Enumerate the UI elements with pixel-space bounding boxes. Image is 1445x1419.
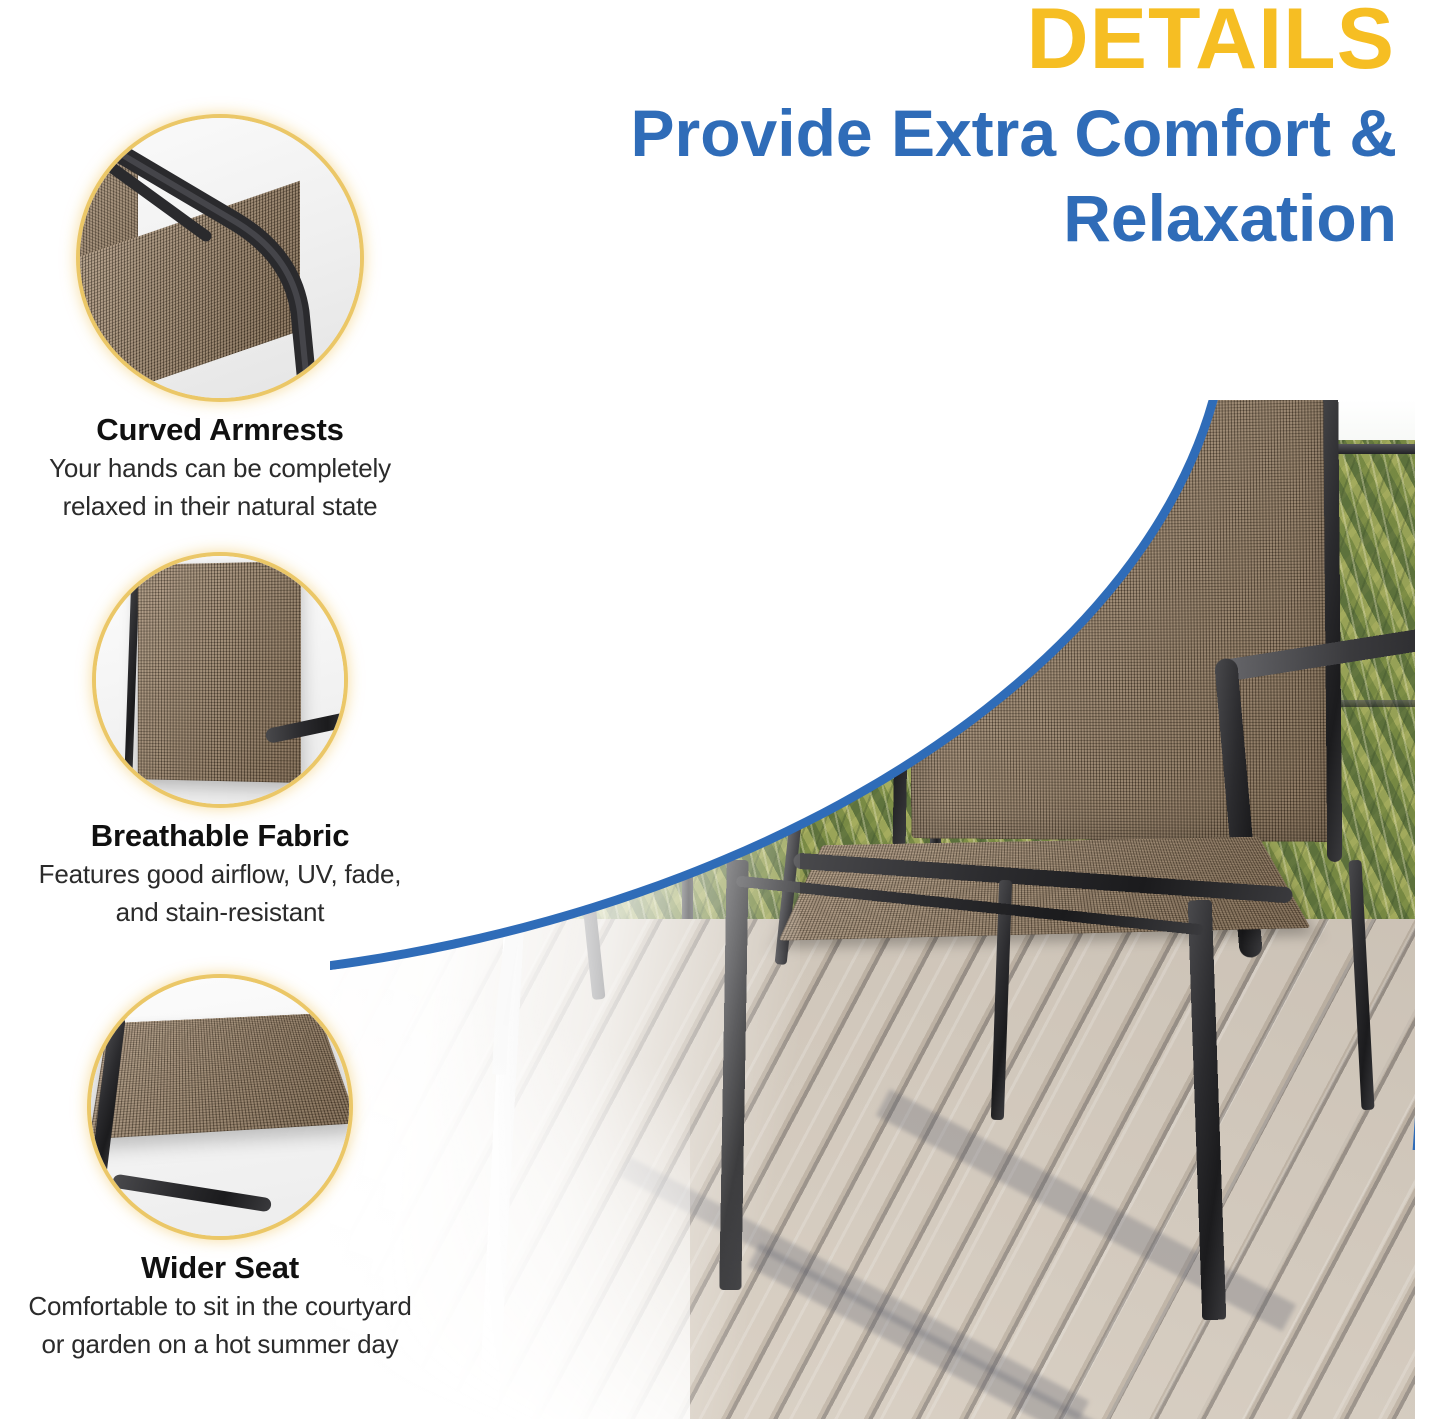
right-edge-mask — [1415, 400, 1445, 1419]
feature-desc-line1: Features good airflow, UV, fade, — [0, 858, 440, 892]
seat-fabric-panel — [91, 1014, 349, 1139]
header-title-line2: Relaxation — [1063, 185, 1397, 252]
backrest-fabric-panel — [137, 562, 300, 784]
armrest-closeup-photo — [80, 118, 360, 398]
feature-curved-armrests: Curved Armrests Your hands can be comple… — [0, 118, 440, 524]
fabric-photo-inner — [96, 556, 344, 804]
armrest-bar-icon — [86, 126, 360, 398]
wide-seat-closeup-photo — [91, 978, 349, 1236]
fabric-back-closeup-photo — [96, 556, 344, 804]
feature-desc-line2: and stain-resistant — [0, 896, 440, 930]
header-block: DETAILS Provide Extra Comfort & Relaxati… — [300, 0, 1445, 290]
feature-desc-line2: relaxed in their natural state — [0, 490, 440, 524]
feature-breathable-fabric: Breathable Fabric Features good airflow,… — [0, 556, 440, 930]
header-eyebrow: DETAILS — [1026, 0, 1395, 82]
feature-wider-seat: Wider Seat Comfortable to sit in the cou… — [0, 978, 440, 1362]
product-detail-page: DETAILS Provide Extra Comfort & Relaxati… — [0, 0, 1445, 1419]
feature-title: Breathable Fabric — [0, 818, 440, 854]
feature-desc-line1: Comfortable to sit in the courtyard — [0, 1290, 440, 1324]
seat-photo-inner — [91, 978, 349, 1236]
chair-leg-front-right — [1188, 900, 1227, 1321]
chair-leg-rear-right — [1348, 860, 1374, 1110]
feature-title: Wider Seat — [0, 1250, 440, 1286]
feature-desc-line1: Your hands can be completely — [0, 452, 440, 486]
photo-inner — [330, 400, 1445, 1419]
feature-desc-line2: or garden on a hot summer day — [0, 1328, 440, 1362]
header-title-line1: Provide Extra Comfort & — [631, 100, 1397, 167]
main-product-photo — [330, 400, 1445, 1419]
feature-title: Curved Armrests — [0, 412, 440, 448]
armrest-photo-inner — [80, 118, 360, 398]
